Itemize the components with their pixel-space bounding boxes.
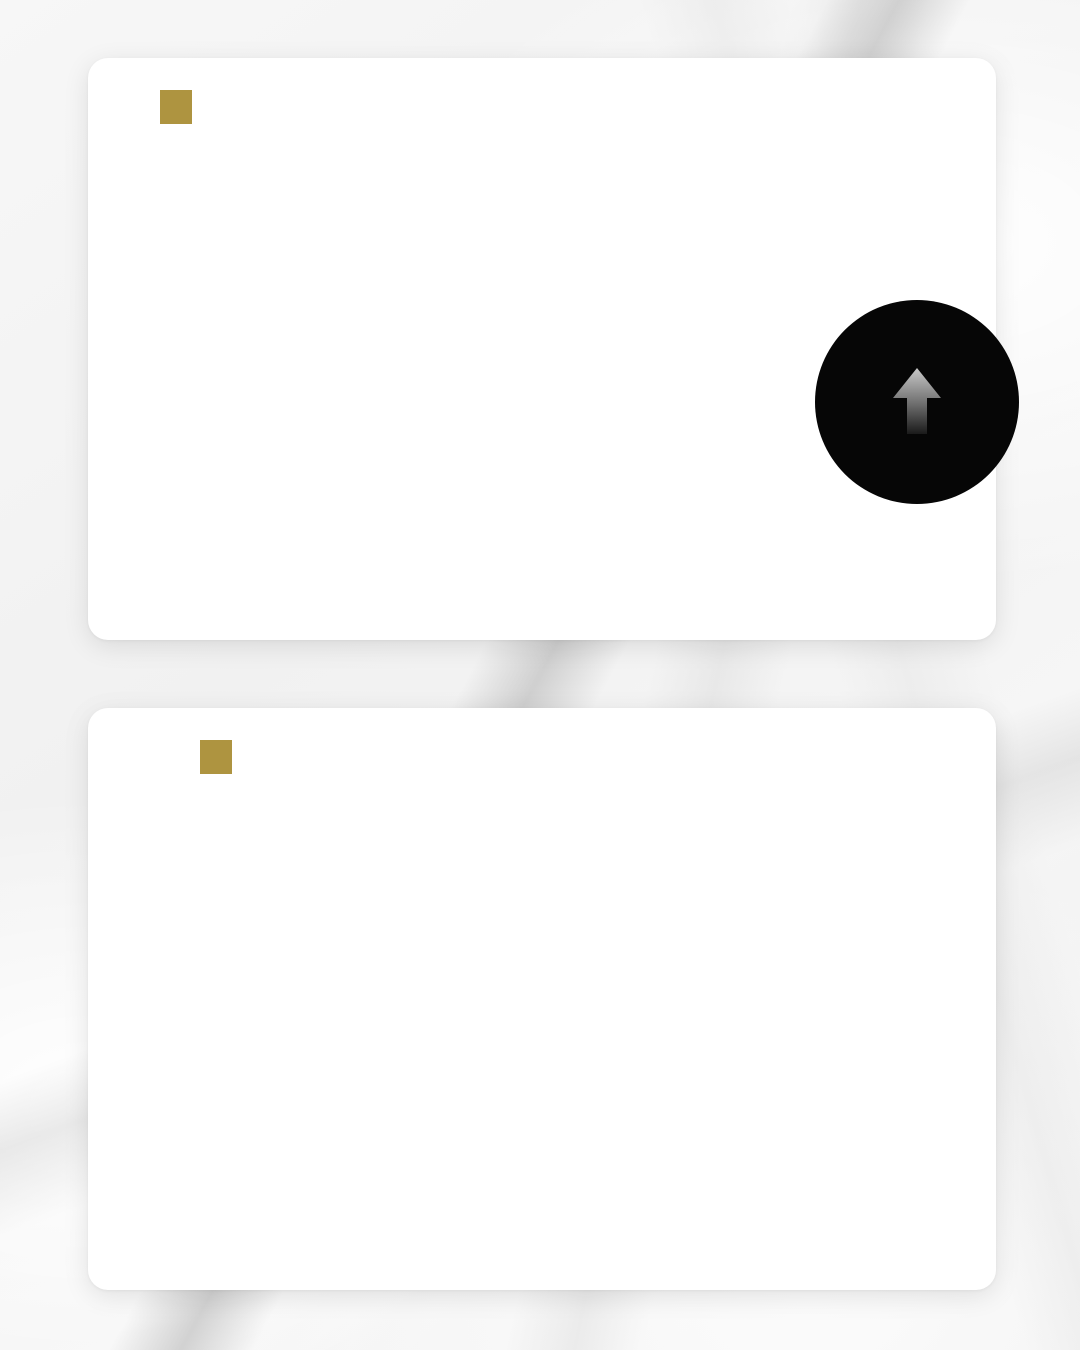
chart-deep-hydration [88, 708, 996, 1290]
percent-chip [160, 90, 192, 124]
percent-chip [200, 740, 232, 774]
status-badge [815, 300, 1019, 504]
arrow-up-icon [892, 368, 942, 434]
stat-card-deep-hydration [88, 708, 996, 1290]
card-header [160, 90, 220, 124]
stat-card-surface-hydration [88, 58, 996, 640]
card-header [200, 740, 260, 774]
